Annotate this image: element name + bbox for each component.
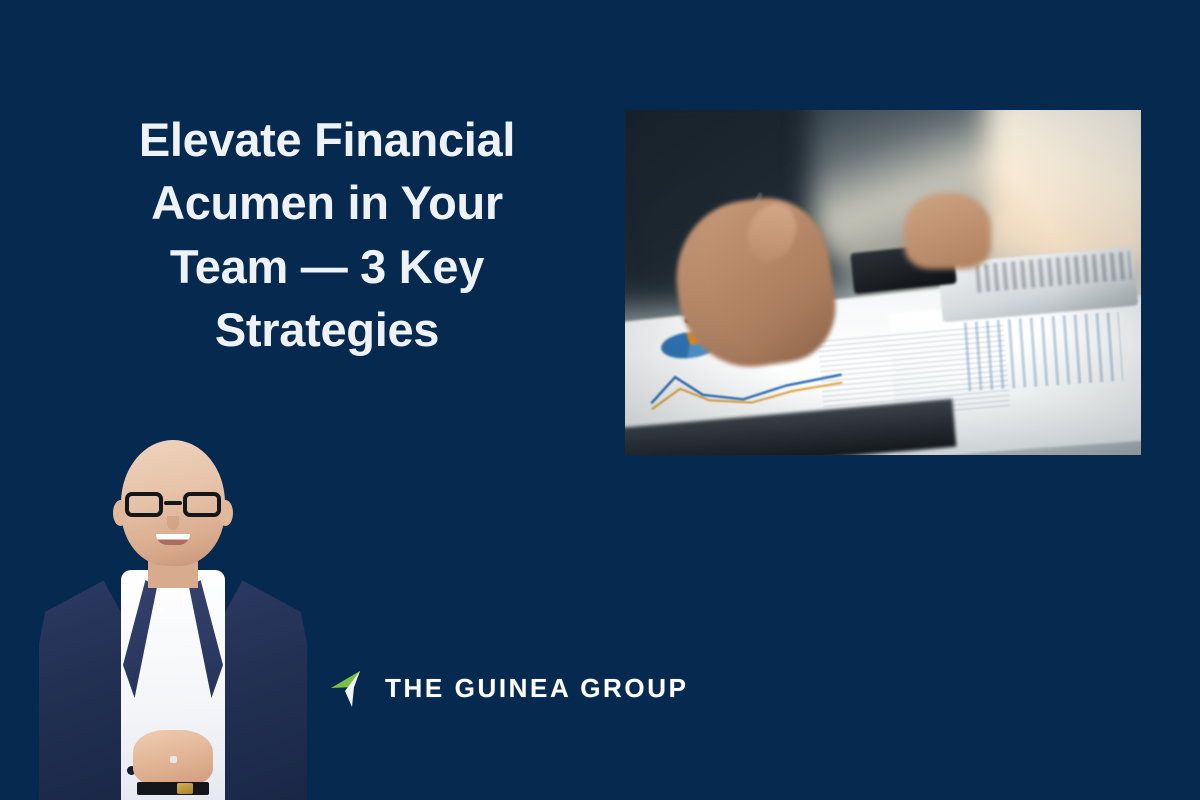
brand-logo[interactable]: THE GUINEA GROUP [328, 666, 689, 710]
headline-block: Elevate Financial Acumen in Your Team — … [92, 108, 562, 362]
ring [170, 756, 177, 763]
brand-logo-text: THE GUINEA GROUP [385, 673, 689, 704]
page-title: Elevate Financial Acumen in Your Team — … [92, 108, 562, 362]
glasses-lens-right [183, 492, 221, 517]
hero-photo [625, 110, 1141, 455]
belt [137, 782, 209, 795]
hand-on-calculator [904, 193, 992, 269]
belt-buckle [177, 783, 193, 794]
hero-photo-scene [625, 110, 1141, 455]
glasses-lens-left [125, 492, 163, 517]
bar-chart-graphic [963, 312, 1122, 392]
guinea-group-arrow-icon [328, 666, 372, 710]
nose [167, 516, 179, 530]
promo-slide: Elevate Financial Acumen in Your Team — … [0, 0, 1200, 800]
glasses-bridge [164, 501, 182, 505]
avatar [38, 430, 308, 800]
glasses-icon [125, 492, 221, 518]
